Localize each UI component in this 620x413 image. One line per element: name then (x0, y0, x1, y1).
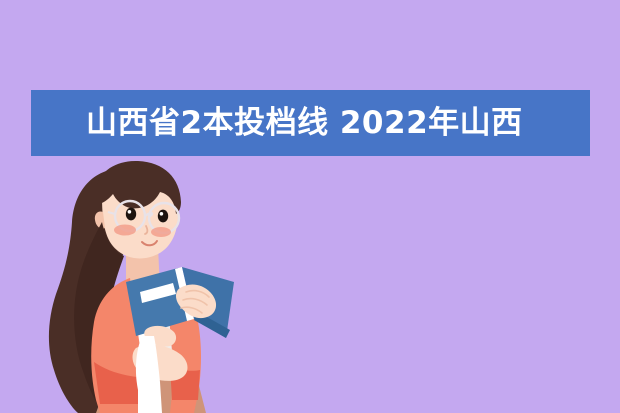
poster-canvas: 山西省2本投档线 2022年山西 (0, 0, 620, 413)
page-title: 山西省2本投档线 2022年山西 (86, 108, 523, 139)
title-banner: 山西省2本投档线 2022年山西 (31, 90, 590, 156)
left-blush (114, 225, 136, 236)
woman-reading-book-illustration (30, 160, 250, 413)
right-eye-highlight (160, 212, 164, 216)
right-eye (158, 210, 168, 223)
left-eye (126, 208, 136, 221)
left-eye-highlight (128, 210, 132, 214)
right-blush (151, 227, 171, 237)
